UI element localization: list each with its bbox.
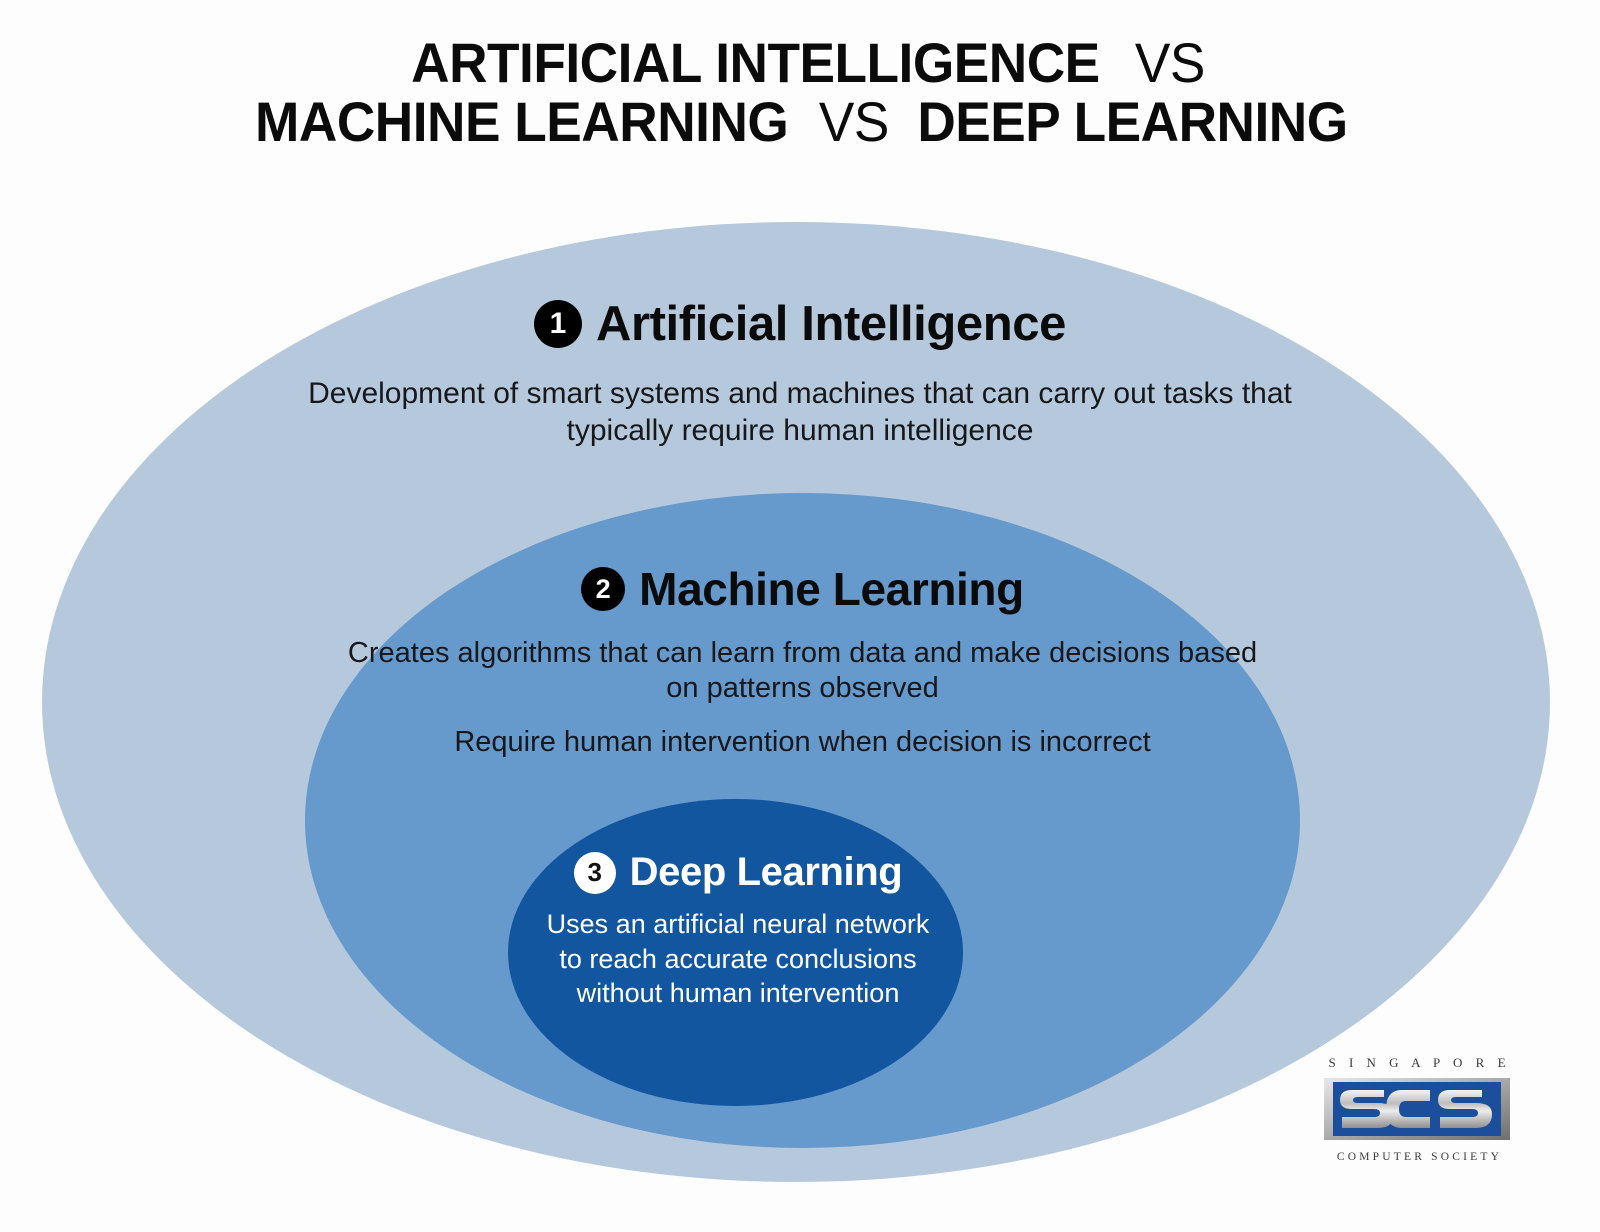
- section-dl-title: Deep Learning: [630, 850, 903, 895]
- page-title: ARTIFICIAL INTELLIGENCE VS MACHINE LEARN…: [0, 34, 1600, 152]
- section-ai-body: Development of smart systems and machine…: [300, 376, 1300, 449]
- section-ml-heading-row: 2 Machine Learning: [330, 562, 1275, 616]
- title-line-2-strong-b: DEEP LEARNING: [917, 93, 1347, 152]
- section-dl-body: Uses an artificial neural network to rea…: [543, 907, 933, 1011]
- title-line-2-vs: VS: [819, 93, 889, 152]
- section-ai-heading-row: 1 Artificial Intelligence: [300, 296, 1300, 352]
- title-line-2: MACHINE LEARNING VS DEEP LEARNING: [0, 93, 1600, 152]
- section-ai-title: Artificial Intelligence: [596, 296, 1066, 352]
- logo-bottom-word: COMPUTER SOCIETY: [1322, 1151, 1512, 1163]
- section-ml-body: Creates algorithms that can learn from d…: [330, 636, 1275, 707]
- section-dl-heading-row: 3 Deep Learning: [543, 850, 933, 895]
- section-machine-learning: 2 Machine Learning Creates algorithms th…: [330, 562, 1275, 760]
- section-artificial-intelligence: 1 Artificial Intelligence Development of…: [300, 296, 1300, 449]
- section-ml-body-secondary: Require human intervention when decision…: [330, 725, 1275, 760]
- section-ml-number-badge: 2: [581, 567, 625, 611]
- scs-monogram-icon: [1322, 1076, 1512, 1142]
- logo-top-word: S I N G A P O R E: [1322, 1055, 1512, 1071]
- section-ml-title: Machine Learning: [639, 562, 1024, 616]
- section-deep-learning: 3 Deep Learning Uses an artificial neura…: [543, 850, 933, 1011]
- section-ai-number-badge: 1: [534, 300, 582, 348]
- section-dl-number-badge: 3: [574, 852, 616, 894]
- title-line-2-strong-a: MACHINE LEARNING: [255, 93, 788, 152]
- title-line-1: ARTIFICIAL INTELLIGENCE VS: [0, 34, 1600, 93]
- title-line-1-vs: VS: [1135, 34, 1205, 93]
- infographic-canvas: ARTIFICIAL INTELLIGENCE VS MACHINE LEARN…: [0, 0, 1600, 1232]
- scs-logo: S I N G A P O R E COMPUT: [1322, 1055, 1512, 1163]
- title-line-1-strong: ARTIFICIAL INTELLIGENCE: [411, 34, 1100, 93]
